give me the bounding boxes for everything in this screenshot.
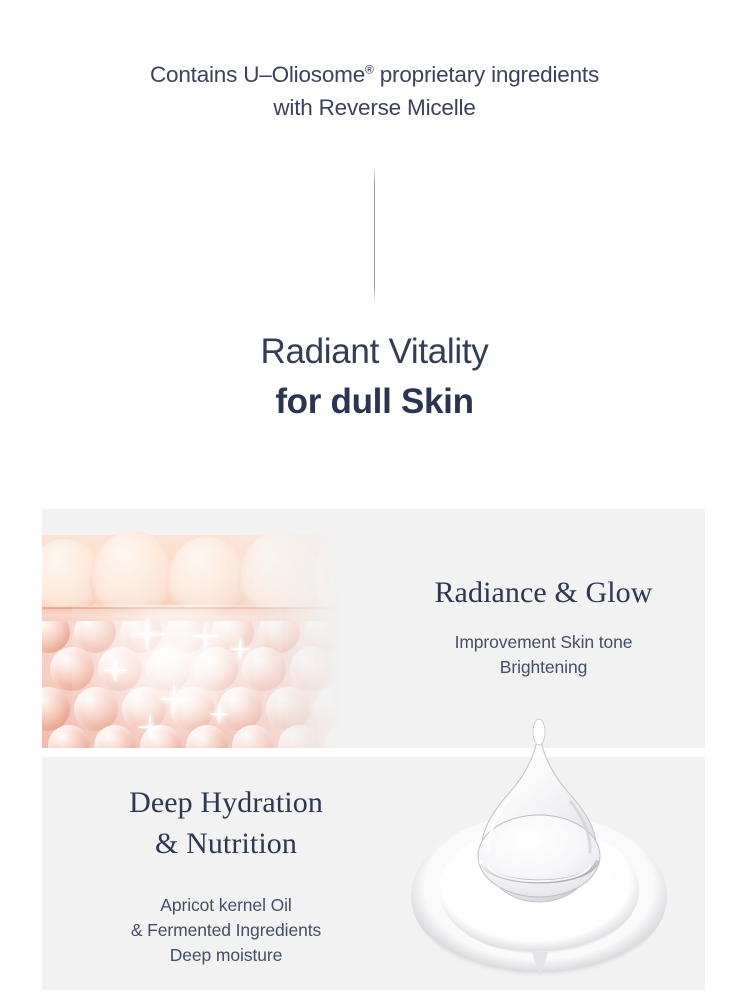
skin-dermis-layer xyxy=(42,621,342,748)
skin-cell-bubble xyxy=(338,647,342,691)
skin-cell-bubble xyxy=(98,647,142,691)
skin-cell-bubble xyxy=(50,647,94,691)
hydration-subtitle: Apricot kernel Oil & Fermented Ingredien… xyxy=(56,893,396,968)
panel-deep-hydration: Deep Hydration & Nutrition Apricot kerne… xyxy=(42,757,705,990)
intro-copy: Contains U–Oliosome® proprietary ingredi… xyxy=(0,58,749,124)
intro-line-1-text: Contains U–Oliosome xyxy=(150,62,365,87)
page-title: Radiant Vitality for dull Skin xyxy=(0,327,749,427)
hydration-title-line-1: Deep Hydration xyxy=(56,782,396,823)
radiance-title: Radiance & Glow xyxy=(382,572,705,613)
skin-cell xyxy=(90,531,176,617)
hydration-subtitle-line-1: Apricot kernel Oil xyxy=(56,893,396,918)
skin-cell-bubble xyxy=(290,647,334,691)
hydration-subtitle-line-3: Deep moisture xyxy=(56,943,396,968)
skin-basal-line xyxy=(42,607,342,609)
skin-cross-section-icon xyxy=(42,509,342,748)
radiance-text-block: Radiance & Glow Improvement Skin tone Br… xyxy=(382,572,705,680)
skin-cell-bubble xyxy=(194,647,238,691)
skin-cell-bubble xyxy=(266,687,310,731)
hydration-text-block: Deep Hydration & Nutrition Apricot kerne… xyxy=(56,782,396,968)
product-detail-page: Contains U–Oliosome® proprietary ingredi… xyxy=(0,0,749,1000)
skin-cell xyxy=(166,537,248,617)
radiance-subtitle-line-2: Brightening xyxy=(382,655,705,680)
intro-line-2: with Reverse Micelle xyxy=(0,91,749,124)
radiance-subtitle-line-1: Improvement Skin tone xyxy=(382,630,705,655)
intro-line-1-tail: proprietary ingredients xyxy=(374,62,599,87)
panel-radiance-glow: Radiance & Glow Improvement Skin tone Br… xyxy=(42,509,705,748)
hydration-title-line-2: & Nutrition xyxy=(56,823,396,864)
vertical-divider xyxy=(374,168,375,301)
skin-cell-bubble xyxy=(146,647,190,691)
skin-basal-layer xyxy=(42,608,342,622)
skin-cell-bubble xyxy=(314,687,342,731)
registered-trademark-icon: ® xyxy=(365,63,374,77)
skin-surface-cells xyxy=(42,529,342,605)
hydration-subtitle-line-2: & Fermented Ingredients xyxy=(56,918,396,943)
skin-cell-bubble xyxy=(242,647,286,691)
headline-line-2: for dull Skin xyxy=(0,377,749,427)
intro-line-1: Contains U–Oliosome® proprietary ingredi… xyxy=(0,58,749,91)
headline-line-1: Radiant Vitality xyxy=(0,327,749,377)
hydration-title: Deep Hydration & Nutrition xyxy=(56,782,396,864)
radiance-subtitle: Improvement Skin tone Brightening xyxy=(382,630,705,680)
